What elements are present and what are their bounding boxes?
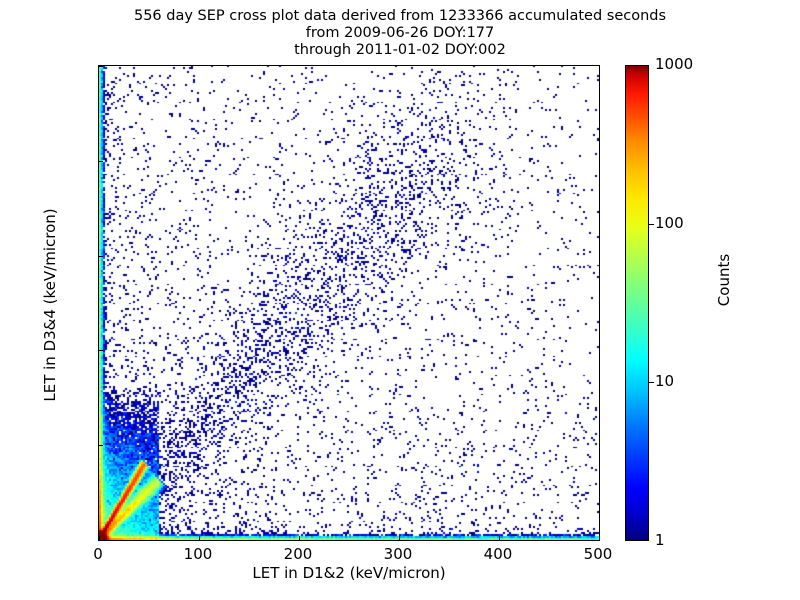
x-tick-label-100: 100 xyxy=(184,545,213,563)
x-axis-tick-labels: 0100200300400500 xyxy=(0,0,800,600)
colorbar-tick-label-1: 1 xyxy=(655,531,665,549)
figure-canvas: 556 day SEP cross plot data derived from… xyxy=(0,0,800,600)
colorbar-tick-100 xyxy=(648,224,654,225)
x-tick-label-200: 200 xyxy=(284,545,313,563)
colorbar xyxy=(625,65,649,541)
colorbar-tick-label-10: 10 xyxy=(655,372,674,390)
colorbar-tick-label-100: 100 xyxy=(655,214,684,232)
y-axis-title: LET in D3&4 (keV/micron) xyxy=(41,155,59,455)
x-tick-label-400: 400 xyxy=(484,545,513,563)
colorbar-gradient xyxy=(625,65,649,541)
x-tick-label-0: 0 xyxy=(93,545,103,563)
colorbar-tick-label-1000: 1000 xyxy=(655,55,693,73)
x-tick-label-300: 300 xyxy=(384,545,413,563)
colorbar-title: Counts xyxy=(715,160,733,400)
colorbar-tick-10 xyxy=(648,382,654,383)
x-axis-title: LET in D1&2 (keV/micron) xyxy=(98,564,600,582)
x-tick-label-500: 500 xyxy=(584,545,613,563)
